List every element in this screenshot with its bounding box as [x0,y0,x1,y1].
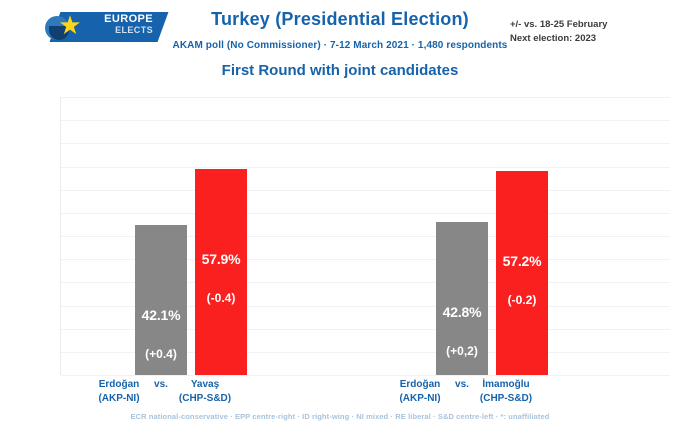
candidate-b-name: Yavaş [174,378,236,392]
bar-delta-label: (+0.4) [135,347,187,361]
bar-value-label: 42.8% [436,304,488,320]
bar-erdogan-vs-imamoglu-a[interactable]: 42.8%(+0,2) [436,222,488,375]
footer-legend-note: ECR national-conservative · EPP centre-r… [0,412,680,421]
gridline [61,375,670,376]
candidate-a-name: Erdoğan [90,378,148,392]
candidate-b-name: İmamoğlu [475,378,537,392]
bar-delta-label: (+0,2) [436,344,488,358]
candidate-a-party: (AKP-NI) [391,392,449,406]
bar-group-erdogan-vs-imamoglu: 42.8%(+0,2)57.2%(-0.2) [399,97,559,375]
meta-comparison-period: +/- vs. 18-25 February [510,18,670,32]
bar-erdogan-vs-imamoglu-b[interactable]: 57.2%(-0.2) [496,171,548,375]
spacer [148,392,174,406]
spacer [449,392,475,406]
candidate-a-name: Erdoğan [391,378,449,392]
bar-value-label: 42.1% [135,307,187,323]
meta-info: +/- vs. 18-25 February Next election: 20… [510,18,670,46]
bar-erdogan-vs-yavas-b[interactable]: 57.9%(-0.4) [195,169,247,375]
candidate-a-party: (AKP-NI) [90,392,148,406]
vs-label: vs. [148,378,174,392]
candidate-b-party: (CHP-S&D) [174,392,236,406]
bar-value-label: 57.2% [496,253,548,269]
bar-delta-label: (-0.2) [496,293,548,307]
bar-group-erdogan-vs-yavas: 42.1%(+0.4)57.9%(-0.4) [98,97,258,375]
x-axis-labels-group-0: Erdoğanvs.Yavaş(AKP-NI)(CHP-S&D) [90,378,236,405]
chart-plot-area: 42.1%(+0.4)57.9%(-0.4) 42.8%(+0,2)57.2%(… [60,97,670,375]
section-title: First Round with joint candidates [0,62,680,79]
meta-next-election: Next election: 2023 [510,32,670,46]
candidate-b-party: (CHP-S&D) [475,392,537,406]
bar-value-label: 57.9% [195,251,247,267]
bar-erdogan-vs-yavas-a[interactable]: 42.1%(+0.4) [135,225,187,375]
x-axis-labels-group-1: Erdoğanvs.İmamoğlu(AKP-NI)(CHP-S&D) [391,378,537,405]
vs-label: vs. [449,378,475,392]
bar-delta-label: (-0.4) [195,291,247,305]
